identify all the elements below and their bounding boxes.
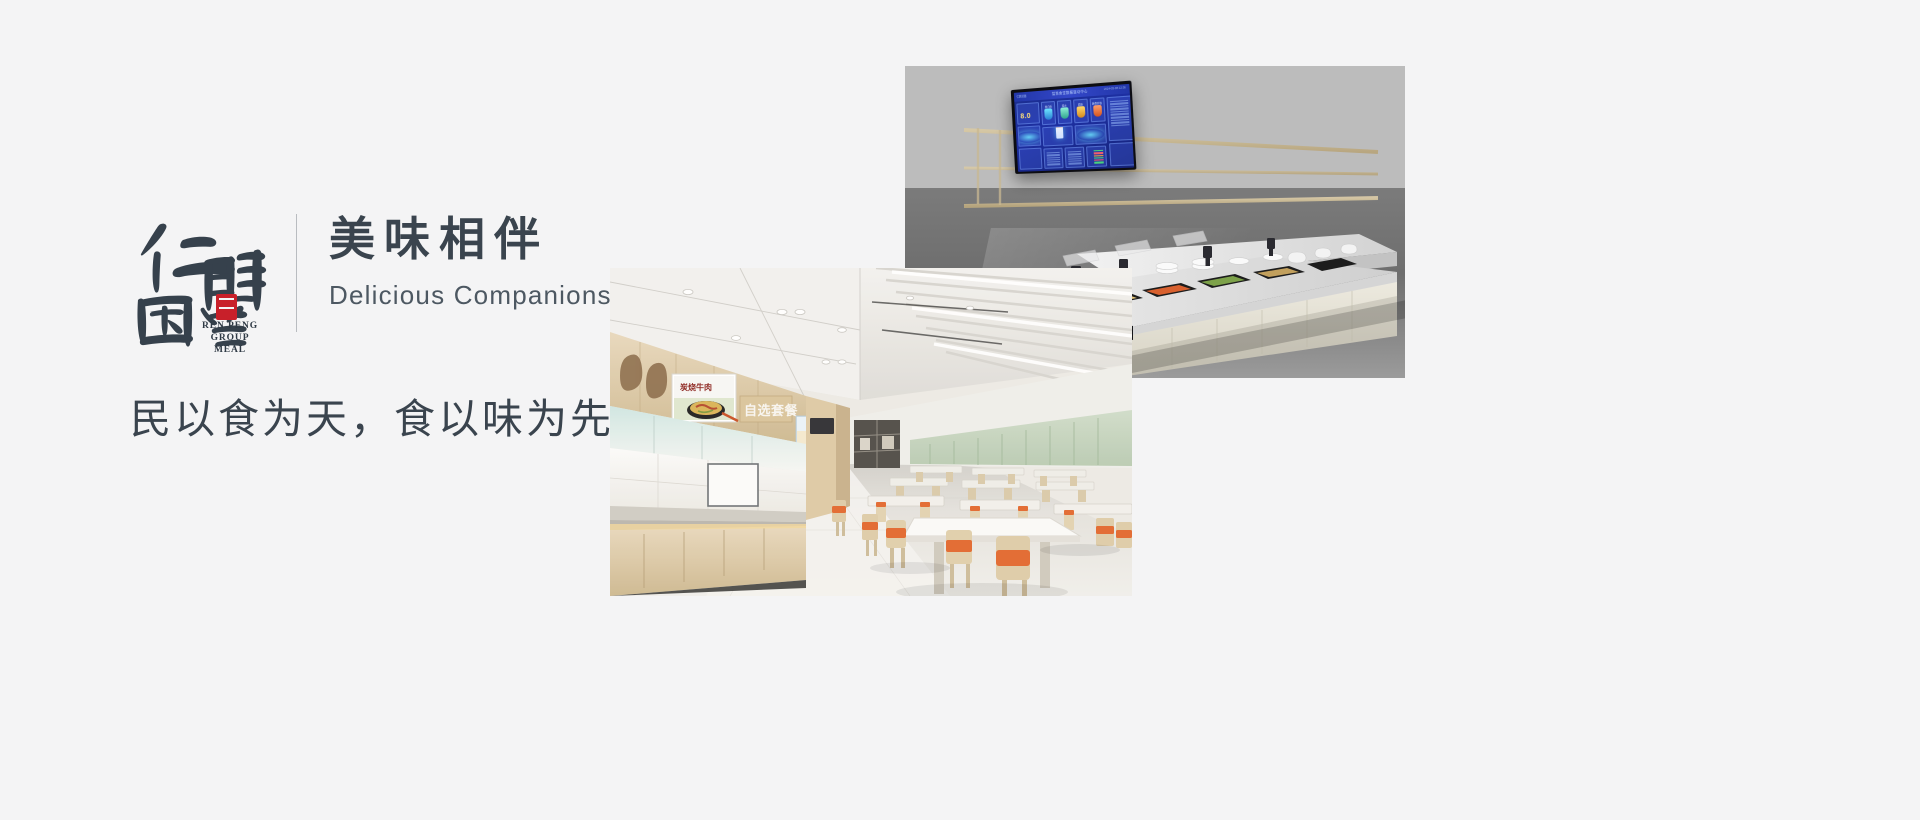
- dashboard-radar-card: [1017, 126, 1042, 147]
- brand-lockup: REN PENG GROUP MEAL 美味相伴 Delicious Compa…: [128, 208, 650, 356]
- dashboard-header-title: 智慧食堂数据驱动中心: [1052, 88, 1088, 96]
- title-column: 美味相伴 Delicious Companionship: [329, 208, 650, 311]
- dashboard-grid: 8.0 蛋白质: [1016, 95, 1131, 169]
- dashboard-list-card: [1106, 95, 1134, 141]
- dashboard-right-column: [1106, 95, 1134, 166]
- dashboard-bar-card-left: [1018, 148, 1043, 169]
- dashboard-gauge-1: [1043, 125, 1074, 146]
- dashboard-minibars-right: [1113, 150, 1131, 162]
- dashboard-screen-content: 仁鹏团餐 智慧食堂数据驱动中心 2024-05-08 12:36 8.0: [1013, 83, 1133, 171]
- dashboard-vial-2: 碳水: [1057, 99, 1072, 124]
- logo-en-line3: MEAL: [191, 344, 269, 356]
- dashboard-status-chips: [1087, 146, 1108, 167]
- dashboard-minibars-left: [1023, 154, 1039, 166]
- dashboard-header-right: 2024-05-08 12:36: [1104, 86, 1126, 91]
- hero-banner: REN PENG GROUP MEAL 美味相伴 Delicious Compa…: [0, 0, 1920, 820]
- dashboard-table-2: [1065, 147, 1086, 168]
- dashboard-kpi-card: 8.0: [1016, 102, 1041, 126]
- dashboard-table-1: [1044, 148, 1064, 169]
- dashboard-vial-row: 蛋白质 碳水 脂肪 膳食纤维: [1041, 97, 1105, 125]
- dashboard-bar-card-right: [1108, 141, 1133, 165]
- dashboard-center-column: 蛋白质 碳水 脂肪 膳食纤维: [1041, 97, 1107, 168]
- dashboard-display-screen[interactable]: 仁鹏团餐 智慧食堂数据驱动中心 2024-05-08 12:36 8.0: [1011, 81, 1137, 174]
- dashboard-vial-3: 脂肪: [1073, 98, 1089, 123]
- tagline-text: 民以食为天，食以味为先: [130, 385, 614, 445]
- dashboard-kpi-value: 8.0: [1020, 112, 1031, 120]
- dashboard-vial-4: 膳食纤维: [1089, 97, 1105, 122]
- vertical-divider: [296, 214, 297, 332]
- dashboard-table-row: [1044, 146, 1108, 169]
- cafeteria-interior-photo: 炭烧牛肉 自选套餐: [610, 268, 1132, 596]
- logo-en-line2: GROUP: [191, 332, 269, 344]
- dashboard-gauge-row: [1043, 123, 1107, 146]
- dashboard-left-column: 8.0: [1016, 102, 1043, 170]
- headline-english: Delicious Companionship: [329, 280, 650, 311]
- logo-en-line1: REN PENG: [191, 320, 269, 332]
- wooden-pergola-frame: [908, 94, 1398, 224]
- renpeng-logo-mark[interactable]: REN PENG GROUP MEAL: [128, 208, 268, 356]
- dashboard-header-left: 仁鹏团餐: [1016, 93, 1026, 98]
- dashboard-vial-1: 蛋白质: [1041, 100, 1056, 125]
- headline-chinese: 美味相伴: [329, 212, 650, 266]
- dashboard-gauge-2: [1074, 123, 1106, 145]
- red-seal-icon: [216, 294, 237, 320]
- logo-english-block: REN PENG GROUP MEAL: [191, 320, 269, 356]
